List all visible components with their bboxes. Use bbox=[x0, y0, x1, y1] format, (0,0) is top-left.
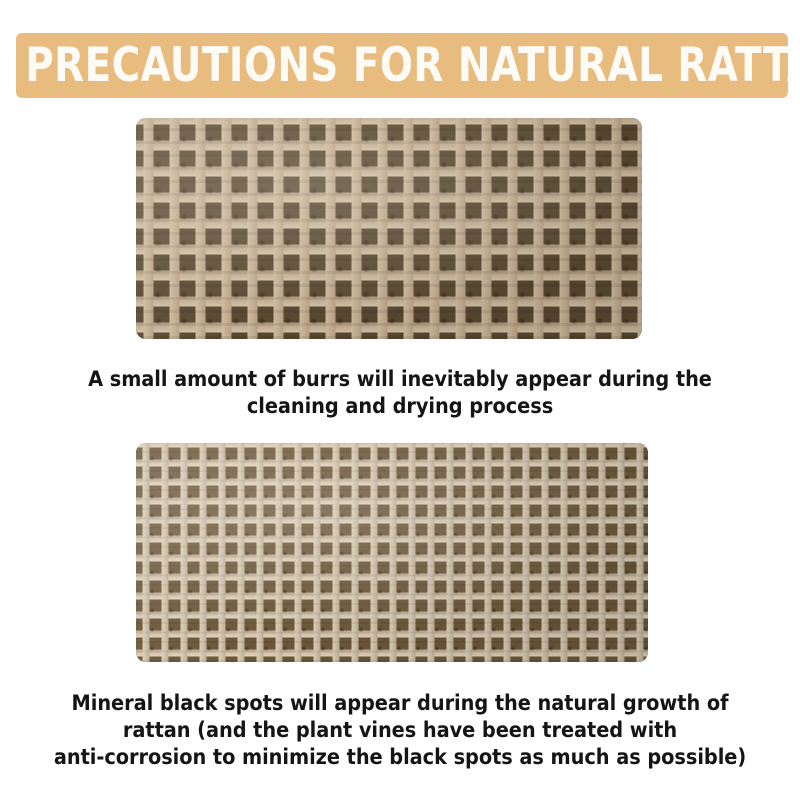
rattan-weave-coarse-image bbox=[136, 118, 642, 339]
page-title: PRECAUTIONS FOR NATURAL RATTAN bbox=[16, 42, 788, 89]
caption-black-spots-line-2: rattan (and the plant vines have been tr… bbox=[0, 717, 800, 744]
header-banner: PRECAUTIONS FOR NATURAL RATTAN bbox=[16, 33, 788, 98]
weave-holes-fine bbox=[136, 443, 648, 662]
caption-burrs-line-2: cleaning and drying process bbox=[0, 393, 800, 420]
caption-burrs-line-1: A small amount of burrs will inevitably … bbox=[0, 366, 800, 393]
caption-black-spots: Mineral black spots will appear during t… bbox=[0, 690, 800, 771]
caption-burrs: A small amount of burrs will inevitably … bbox=[0, 366, 800, 420]
rattan-weave-fine-image bbox=[136, 443, 648, 662]
weave-holes-coarse bbox=[136, 118, 642, 339]
infographic-page: PRECAUTIONS FOR NATURAL RATTAN A small a… bbox=[0, 0, 800, 800]
caption-black-spots-line-1: Mineral black spots will appear during t… bbox=[0, 690, 800, 717]
caption-black-spots-line-3: anti-corrosion to minimize the black spo… bbox=[0, 744, 800, 771]
